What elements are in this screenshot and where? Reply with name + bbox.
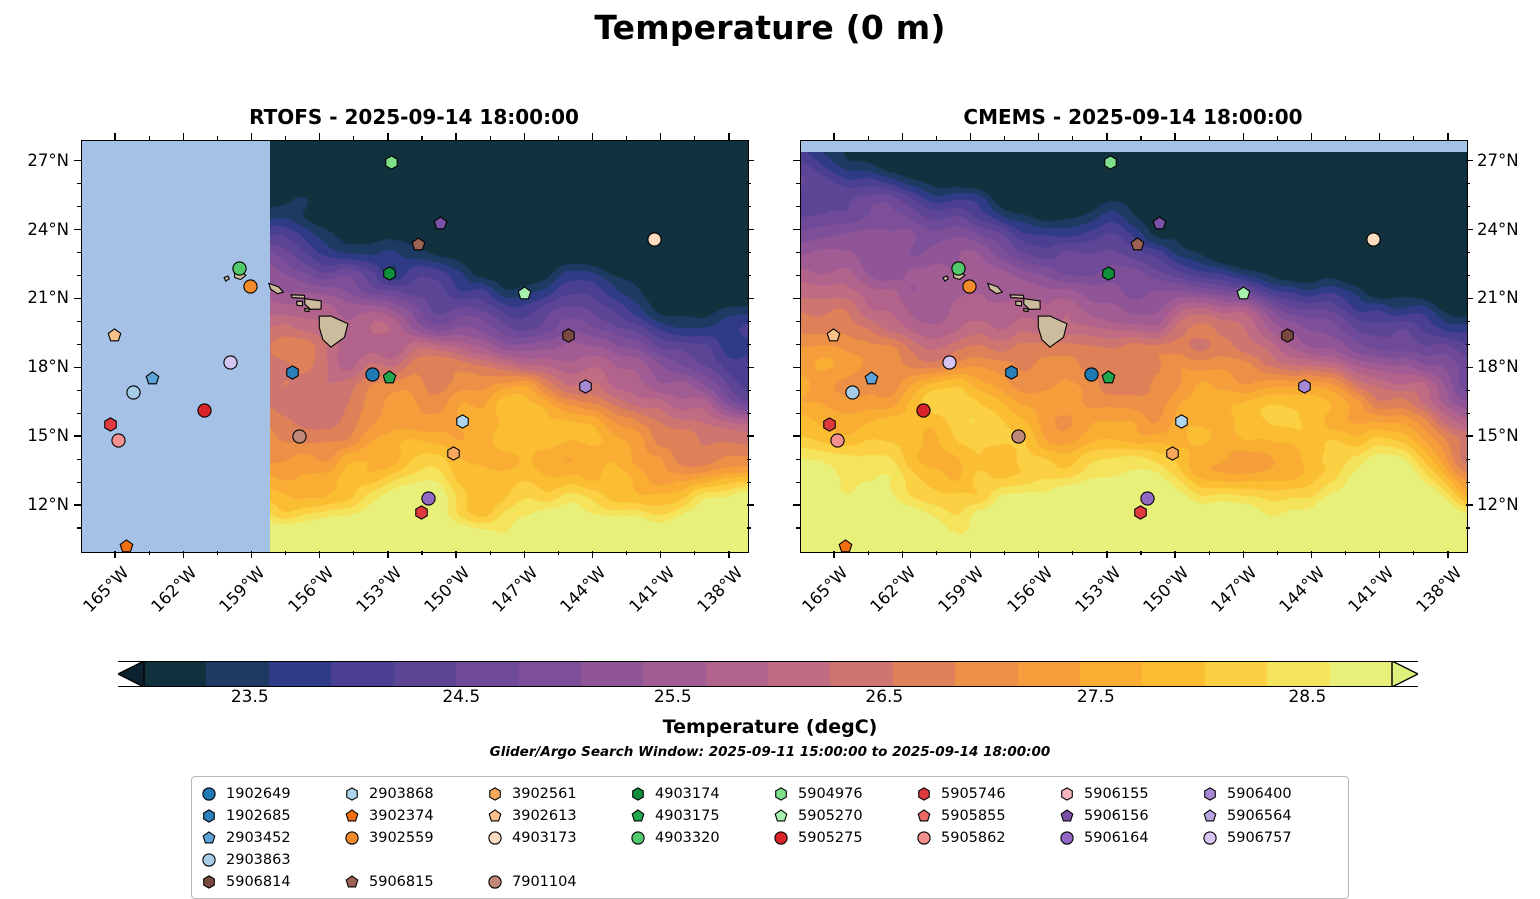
xtick-cmems-0 xyxy=(833,551,834,558)
xtick-label-rtofs-8: 141°W xyxy=(617,563,679,625)
xtick-label-rtofs-0: 165°W xyxy=(71,563,133,625)
coastlines-rtofs xyxy=(82,141,748,552)
legend-entry-3902374[interactable]: 3902374 xyxy=(341,806,484,826)
platform-marker-5905270[interactable] xyxy=(517,286,532,301)
ytick-minor-cmems xyxy=(796,206,800,207)
platform-marker-5905746[interactable] xyxy=(822,417,837,432)
legend-marker-2903863 xyxy=(198,853,220,867)
legend-label-5904976: 5904976 xyxy=(792,786,863,802)
xtick-minor-top-rtofs xyxy=(558,136,559,140)
ytick-minor-cmems xyxy=(796,482,800,483)
ytick-rtofs-2 xyxy=(74,298,81,299)
xtick-minor-rtofs xyxy=(626,551,627,555)
platform-marker-4903175[interactable] xyxy=(382,370,397,385)
ytick-minor-cmems xyxy=(796,413,800,414)
ytick-rtofs-1 xyxy=(74,229,81,230)
platform-marker-5905855[interactable] xyxy=(1133,505,1148,520)
ytick-rtofs-0 xyxy=(74,160,81,161)
ytick-minor-rtofs xyxy=(77,527,81,528)
legend-entry-5906815[interactable]: 5906815 xyxy=(341,872,484,892)
map-panel-cmems[interactable] xyxy=(800,140,1468,553)
legend-entry-5905862[interactable]: 5905862 xyxy=(913,828,1056,848)
island-niihau xyxy=(224,276,229,281)
platform-marker-5905275[interactable] xyxy=(197,403,212,418)
xtick-minor-top-rtofs xyxy=(421,136,422,140)
platform-marker-2903868[interactable] xyxy=(455,414,470,429)
legend-marker-5905746 xyxy=(913,787,935,801)
island-kahoolawe xyxy=(305,309,310,312)
legend-label-5906815: 5906815 xyxy=(363,874,434,890)
xtick-rtofs-3 xyxy=(319,551,320,558)
platform-marker-4903174[interactable] xyxy=(382,266,397,281)
legend-marker-5906814 xyxy=(198,875,220,889)
ytick-minor-cmems xyxy=(796,275,800,276)
xtick-rtofs-5 xyxy=(455,551,456,558)
legend-marker-3902613 xyxy=(484,809,506,823)
legend-entry-5906814[interactable]: 5906814 xyxy=(198,872,341,892)
panel-title-cmems: CMEMS - 2025-09-14 18:00:00 xyxy=(800,105,1466,129)
xtick-minor-top-cmems xyxy=(1004,136,1005,140)
platform-marker-2903863[interactable] xyxy=(126,385,141,400)
ytick-minor-r-rtofs xyxy=(747,344,751,345)
platform-marker-5905862[interactable] xyxy=(111,433,126,448)
legend-label-4903320: 4903320 xyxy=(649,830,720,846)
ytick-label-right-4: 15°N xyxy=(1477,426,1540,445)
xtick-label-rtofs-4: 153°W xyxy=(344,563,406,625)
platform-marker-5906757[interactable] xyxy=(223,355,238,370)
map-panel-rtofs[interactable] xyxy=(81,140,749,553)
ytick-inner2-cmems-3 xyxy=(793,367,800,368)
xtick-label-rtofs-6: 147°W xyxy=(480,563,542,625)
platform-marker-2903863[interactable] xyxy=(845,385,860,400)
platform-marker-3902561[interactable] xyxy=(446,446,461,461)
xtick-top-rtofs-3 xyxy=(319,133,320,140)
platform-marker-3902374[interactable] xyxy=(838,539,853,553)
ytick-minor-rtofs xyxy=(77,275,81,276)
ytick-minor-r-cmems xyxy=(1466,459,1470,460)
xtick-top-cmems-7 xyxy=(1311,133,1312,140)
legend-marker-5906155 xyxy=(1056,787,1078,801)
colorbar[interactable] xyxy=(118,661,1418,687)
ytick-minor-r-rtofs xyxy=(747,482,751,483)
coastlines-cmems xyxy=(801,141,1467,552)
platform-marker-5905746[interactable] xyxy=(103,417,118,432)
legend-entry-2903452[interactable]: 2903452 xyxy=(198,828,341,848)
legend-label-3902613: 3902613 xyxy=(506,808,577,824)
xtick-minor-rtofs xyxy=(490,551,491,555)
xtick-label-cmems-1: 162°W xyxy=(858,563,920,625)
ytick-minor-cmems xyxy=(796,321,800,322)
ytick-label-left-3: 18°N xyxy=(1,357,69,376)
legend-entry-5905270[interactable]: 5905270 xyxy=(770,806,913,826)
platform-marker-5906815b[interactable] xyxy=(1011,429,1026,444)
island-kahoolawe xyxy=(1024,309,1029,312)
legend-entry-5906757[interactable]: 5906757 xyxy=(1199,828,1342,848)
island-oahu xyxy=(269,283,283,293)
ytick-cmems-4 xyxy=(1466,435,1473,436)
legend-label-3902559: 3902559 xyxy=(363,830,434,846)
panel-title-rtofs: RTOFS - 2025-09-14 18:00:00 xyxy=(81,105,747,129)
legend-marker-1902685 xyxy=(198,809,220,823)
platform-marker-2903452[interactable] xyxy=(145,371,160,386)
platform-marker-3902559[interactable] xyxy=(962,279,977,294)
xtick-label-rtofs-5: 150°W xyxy=(412,563,474,625)
xtick-minor-rtofs xyxy=(558,551,559,555)
ytick-minor-rtofs xyxy=(77,344,81,345)
xtick-cmems-2 xyxy=(970,551,971,558)
xtick-top-cmems-2 xyxy=(970,133,971,140)
xtick-top-rtofs-0 xyxy=(114,133,115,140)
ytick-minor-cmems xyxy=(796,344,800,345)
page-title: Temperature (0 m) xyxy=(0,8,1540,47)
legend-entry-5906400[interactable]: 5906400 xyxy=(1199,784,1342,804)
colorbar-tick-label-1: 24.5 xyxy=(442,687,480,707)
xtick-label-cmems-5: 150°W xyxy=(1131,563,1193,625)
platform-marker-5905855[interactable] xyxy=(414,505,429,520)
ytick-minor-r-rtofs xyxy=(747,275,751,276)
figure-canvas: Temperature (0 m) RTOFS - 2025-09-14 18:… xyxy=(0,0,1540,889)
platform-marker-4903320[interactable] xyxy=(232,261,247,276)
colorbar-extend-arrows xyxy=(118,661,1418,687)
island-molokai xyxy=(291,295,305,299)
ytick-inner2-cmems-4 xyxy=(793,435,800,436)
legend-entry-7901104[interactable]: 7901104 xyxy=(484,872,627,892)
xtick-rtofs-0 xyxy=(114,551,115,558)
platform-marker-4903173[interactable] xyxy=(1366,232,1381,247)
xtick-minor-top-cmems xyxy=(1413,136,1414,140)
xtick-minor-top-rtofs xyxy=(149,136,150,140)
legend-label-5906155: 5906155 xyxy=(1078,786,1149,802)
ytick-cmems-5 xyxy=(1466,504,1473,505)
platform-marker-5906400[interactable] xyxy=(1297,379,1312,394)
legend-entry-5905746[interactable]: 5905746 xyxy=(913,784,1056,804)
platform-marker-5906400[interactable] xyxy=(578,379,593,394)
ytick-inner2-cmems-0 xyxy=(793,160,800,161)
xtick-label-cmems-2: 159°W xyxy=(926,563,988,625)
colorbar-tick-label-2: 25.5 xyxy=(654,687,692,707)
platform-marker-5904976[interactable] xyxy=(384,155,399,170)
xtick-minor-top-cmems xyxy=(936,136,937,140)
platform-marker-5906156[interactable] xyxy=(433,216,448,231)
platform-marker-5905270[interactable] xyxy=(1236,286,1251,301)
island-maui xyxy=(305,299,321,310)
platform-marker-5906164[interactable] xyxy=(1140,491,1155,506)
island-hawaii xyxy=(1038,316,1067,347)
colorbar-tick-label-3: 26.5 xyxy=(865,687,903,707)
xtick-minor-top-cmems xyxy=(1277,136,1278,140)
xtick-minor-top-cmems xyxy=(1345,136,1346,140)
legend-label-5906814: 5906814 xyxy=(220,874,291,890)
ytick-minor-rtofs xyxy=(77,252,81,253)
xtick-top-cmems-5 xyxy=(1174,133,1175,140)
ytick-inner-rtofs-4 xyxy=(747,435,754,436)
legend-marker-2903868 xyxy=(341,787,363,801)
platform-marker-4903174[interactable] xyxy=(1101,266,1116,281)
ytick-minor-r-rtofs xyxy=(747,390,751,391)
legend-empty-cell xyxy=(627,850,770,870)
xtick-label-cmems-7: 144°W xyxy=(1267,563,1329,625)
platform-marker-4903175[interactable] xyxy=(1101,370,1116,385)
xtick-label-rtofs-2: 159°W xyxy=(207,563,269,625)
xtick-top-rtofs-1 xyxy=(183,133,184,140)
legend-empty-cell xyxy=(1199,850,1342,870)
xtick-rtofs-4 xyxy=(387,551,388,558)
island-maui xyxy=(1024,299,1040,310)
xtick-cmems-8 xyxy=(1379,551,1380,558)
legend-empty-cell xyxy=(341,850,484,870)
ytick-label-right-5: 12°N xyxy=(1477,495,1540,514)
legend-label-4903174: 4903174 xyxy=(649,786,720,802)
island-lanai xyxy=(297,301,303,306)
legend-marker-4903175 xyxy=(627,809,649,823)
platform-marker-2903452[interactable] xyxy=(864,371,879,386)
ytick-cmems-0 xyxy=(1466,160,1473,161)
colorbar-tick-label-0: 23.5 xyxy=(231,687,269,707)
legend-entry-3902561[interactable]: 3902561 xyxy=(484,784,627,804)
legend-label-3902561: 3902561 xyxy=(506,786,577,802)
legend-entry-4903174[interactable]: 4903174 xyxy=(627,784,770,804)
ytick-minor-r-cmems xyxy=(1466,482,1470,483)
legend-label-2903452: 2903452 xyxy=(220,830,291,846)
platform-marker-5904976[interactable] xyxy=(1103,155,1118,170)
platform-marker-5906164[interactable] xyxy=(421,491,436,506)
xtick-rtofs-7 xyxy=(592,551,593,558)
legend-label-5906757: 5906757 xyxy=(1221,830,1292,846)
xtick-top-cmems-6 xyxy=(1243,133,1244,140)
ytick-minor-rtofs xyxy=(77,321,81,322)
legend-empty-cell xyxy=(484,850,627,870)
ytick-minor-r-cmems xyxy=(1466,252,1470,253)
legend-entry-4903175[interactable]: 4903175 xyxy=(627,806,770,826)
xtick-minor-top-rtofs xyxy=(626,136,627,140)
platform-marker-4903173[interactable] xyxy=(647,232,662,247)
ytick-minor-r-cmems xyxy=(1466,390,1470,391)
ytick-rtofs-4 xyxy=(74,435,81,436)
legend-entry-5906155[interactable]: 5906155 xyxy=(1056,784,1199,804)
ytick-minor-r-rtofs xyxy=(747,321,751,322)
platform-marker-5906156[interactable] xyxy=(1152,216,1167,231)
xtick-minor-rtofs xyxy=(285,551,286,555)
legend-empty-cell xyxy=(913,850,1056,870)
platform-marker-1902649[interactable] xyxy=(365,367,380,382)
legend-entry-5906156[interactable]: 5906156 xyxy=(1056,806,1199,826)
xtick-rtofs-8 xyxy=(660,551,661,558)
legend-empty-cell xyxy=(1056,850,1199,870)
legend-label-1902649: 1902649 xyxy=(220,786,291,802)
xtick-minor-cmems xyxy=(1413,551,1414,555)
ytick-minor-r-cmems xyxy=(1466,275,1470,276)
legend-entry-4903173[interactable]: 4903173 xyxy=(484,828,627,848)
xtick-top-cmems-1 xyxy=(902,133,903,140)
ytick-label-left-1: 24°N xyxy=(1,220,69,239)
xtick-minor-top-cmems xyxy=(1209,136,1210,140)
ytick-minor-rtofs xyxy=(77,413,81,414)
xtick-top-cmems-4 xyxy=(1106,133,1107,140)
xtick-top-rtofs-6 xyxy=(524,133,525,140)
platform-marker-5906815b[interactable] xyxy=(292,429,307,444)
xtick-top-rtofs-4 xyxy=(387,133,388,140)
xtick-cmems-9 xyxy=(1447,551,1448,558)
legend-marker-4903173 xyxy=(484,831,506,845)
xtick-label-cmems-8: 141°W xyxy=(1336,563,1398,625)
legend-marker-5906815 xyxy=(341,875,363,889)
island-hawaii xyxy=(319,316,348,347)
xtick-minor-cmems xyxy=(1209,551,1210,555)
xtick-minor-cmems xyxy=(1072,551,1073,555)
ytick-label-right-0: 27°N xyxy=(1477,151,1540,170)
legend-entry-4903320[interactable]: 4903320 xyxy=(627,828,770,848)
xtick-minor-cmems xyxy=(1345,551,1346,555)
legend-entry-2903863[interactable]: 2903863 xyxy=(198,850,341,870)
platform-marker-1902649[interactable] xyxy=(1084,367,1099,382)
ytick-minor-cmems xyxy=(796,390,800,391)
ytick-rtofs-3 xyxy=(74,367,81,368)
xtick-cmems-7 xyxy=(1311,551,1312,558)
ytick-rtofs-5 xyxy=(74,504,81,505)
ytick-cmems-2 xyxy=(1466,298,1473,299)
ytick-minor-cmems xyxy=(796,183,800,184)
legend-label-5906400: 5906400 xyxy=(1221,786,1292,802)
legend-label-2903868: 2903868 xyxy=(363,786,434,802)
colorbar-label: Temperature (degC) xyxy=(0,716,1540,738)
legend-entry-3902559[interactable]: 3902559 xyxy=(341,828,484,848)
ytick-label-right-1: 24°N xyxy=(1477,220,1540,239)
platform-marker-2903868[interactable] xyxy=(1174,414,1189,429)
ytick-minor-r-cmems xyxy=(1466,321,1470,322)
xtick-minor-cmems xyxy=(1004,551,1005,555)
ytick-minor-rtofs xyxy=(77,206,81,207)
ytick-minor-rtofs xyxy=(77,390,81,391)
platform-marker-1902685[interactable] xyxy=(1004,365,1019,380)
ytick-minor-r-cmems xyxy=(1466,183,1470,184)
xtick-label-rtofs-1: 162°W xyxy=(139,563,201,625)
xtick-minor-cmems xyxy=(1140,551,1141,555)
ytick-inner2-cmems-1 xyxy=(793,229,800,230)
legend-marker-4903174 xyxy=(627,787,649,801)
legend-marker-3902559 xyxy=(341,831,363,845)
ytick-label-left-2: 21°N xyxy=(1,288,69,307)
legend-marker-2903452 xyxy=(198,831,220,845)
ytick-label-right-3: 18°N xyxy=(1477,357,1540,376)
xtick-minor-top-cmems xyxy=(1140,136,1141,140)
platform-marker-5906815[interactable] xyxy=(1130,237,1145,252)
legend-marker-5905855 xyxy=(913,809,935,823)
ytick-cmems-3 xyxy=(1466,367,1473,368)
legend-entry-1902649[interactable]: 1902649 xyxy=(198,784,341,804)
ytick-minor-r-rtofs xyxy=(747,206,751,207)
legend-marker-1902649 xyxy=(198,787,220,801)
xtick-top-rtofs-7 xyxy=(592,133,593,140)
ytick-minor-cmems xyxy=(796,459,800,460)
legend-marker-5906164 xyxy=(1056,831,1078,845)
ytick-minor-cmems xyxy=(796,527,800,528)
legend-marker-5906564 xyxy=(1199,809,1221,823)
platform-marker-3902374[interactable] xyxy=(119,539,134,553)
ytick-inner2-cmems-2 xyxy=(793,298,800,299)
xtick-minor-rtofs xyxy=(421,551,422,555)
legend-label-5905862: 5905862 xyxy=(935,830,1006,846)
legend-marker-5905275 xyxy=(770,831,792,845)
ytick-inner-rtofs-2 xyxy=(747,298,754,299)
xtick-top-cmems-3 xyxy=(1038,133,1039,140)
legend-entry-5906564[interactable]: 5906564 xyxy=(1199,806,1342,826)
xtick-label-rtofs-7: 144°W xyxy=(548,563,610,625)
ytick-minor-r-rtofs xyxy=(747,527,751,528)
xtick-rtofs-6 xyxy=(524,551,525,558)
platform-marker-1902685[interactable] xyxy=(285,365,300,380)
platform-legend[interactable]: 1902649290386839025614903174590497659057… xyxy=(191,776,1349,899)
legend-empty-cell xyxy=(770,850,913,870)
platform-marker-5906814[interactable] xyxy=(561,328,576,343)
xtick-minor-cmems xyxy=(868,551,869,555)
xtick-minor-top-rtofs xyxy=(353,136,354,140)
xtick-minor-top-rtofs xyxy=(490,136,491,140)
xtick-cmems-6 xyxy=(1243,551,1244,558)
xtick-label-cmems-3: 156°W xyxy=(995,563,1057,625)
xtick-label-cmems-6: 147°W xyxy=(1199,563,1261,625)
legend-marker-5906757 xyxy=(1199,831,1221,845)
legend-label-2903863: 2903863 xyxy=(220,852,291,868)
xtick-cmems-4 xyxy=(1106,551,1107,558)
ytick-minor-r-cmems xyxy=(1466,206,1470,207)
platform-marker-5905862[interactable] xyxy=(830,433,845,448)
legend-label-5906164: 5906164 xyxy=(1078,830,1149,846)
legend-marker-5906400 xyxy=(1199,787,1221,801)
legend-entry-1902685[interactable]: 1902685 xyxy=(198,806,341,826)
platform-marker-3902559[interactable] xyxy=(243,279,258,294)
xtick-minor-rtofs xyxy=(149,551,150,555)
search-window-caption: Glider/Argo Search Window: 2025-09-11 15… xyxy=(0,744,1540,760)
xtick-top-rtofs-2 xyxy=(251,133,252,140)
legend-entry-3902613[interactable]: 3902613 xyxy=(484,806,627,826)
island-molokai xyxy=(1010,295,1024,299)
platform-marker-4903320[interactable] xyxy=(951,261,966,276)
ytick-minor-rtofs xyxy=(77,183,81,184)
legend-entry-2903868[interactable]: 2903868 xyxy=(341,784,484,804)
colorbar-tick-label-5: 28.5 xyxy=(1288,687,1326,707)
ytick-minor-r-cmems xyxy=(1466,527,1470,528)
xtick-minor-rtofs xyxy=(353,551,354,555)
legend-label-3902374: 3902374 xyxy=(363,808,434,824)
platform-marker-3902561[interactable] xyxy=(1165,446,1180,461)
xtick-cmems-3 xyxy=(1038,551,1039,558)
platform-marker-5906814[interactable] xyxy=(1280,328,1295,343)
legend-entry-5906164[interactable]: 5906164 xyxy=(1056,828,1199,848)
ytick-inner-rtofs-5 xyxy=(747,504,754,505)
xtick-label-rtofs-3: 156°W xyxy=(276,563,338,625)
legend-label-5906156: 5906156 xyxy=(1078,808,1149,824)
legend-marker-5905270 xyxy=(770,809,792,823)
platform-marker-5906815[interactable] xyxy=(411,237,426,252)
legend-entry-5905275[interactable]: 5905275 xyxy=(770,828,913,848)
platform-marker-5906757[interactable] xyxy=(942,355,957,370)
xtick-rtofs-2 xyxy=(251,551,252,558)
platform-marker-3902613[interactable] xyxy=(107,328,122,343)
xtick-minor-top-cmems xyxy=(1072,136,1073,140)
legend-marker-7901104 xyxy=(484,875,506,889)
legend-marker-5906156 xyxy=(1056,809,1078,823)
xtick-label-cmems-9: 138°W xyxy=(1404,563,1466,625)
xtick-cmems-5 xyxy=(1174,551,1175,558)
xtick-rtofs-9 xyxy=(728,551,729,558)
legend-label-5905275: 5905275 xyxy=(792,830,863,846)
legend-entry-5904976[interactable]: 5904976 xyxy=(770,784,913,804)
legend-entry-5905855[interactable]: 5905855 xyxy=(913,806,1056,826)
xtick-top-cmems-0 xyxy=(833,133,834,140)
xtick-minor-top-rtofs xyxy=(285,136,286,140)
platform-marker-5905275[interactable] xyxy=(916,403,931,418)
platform-marker-3902613[interactable] xyxy=(826,328,841,343)
